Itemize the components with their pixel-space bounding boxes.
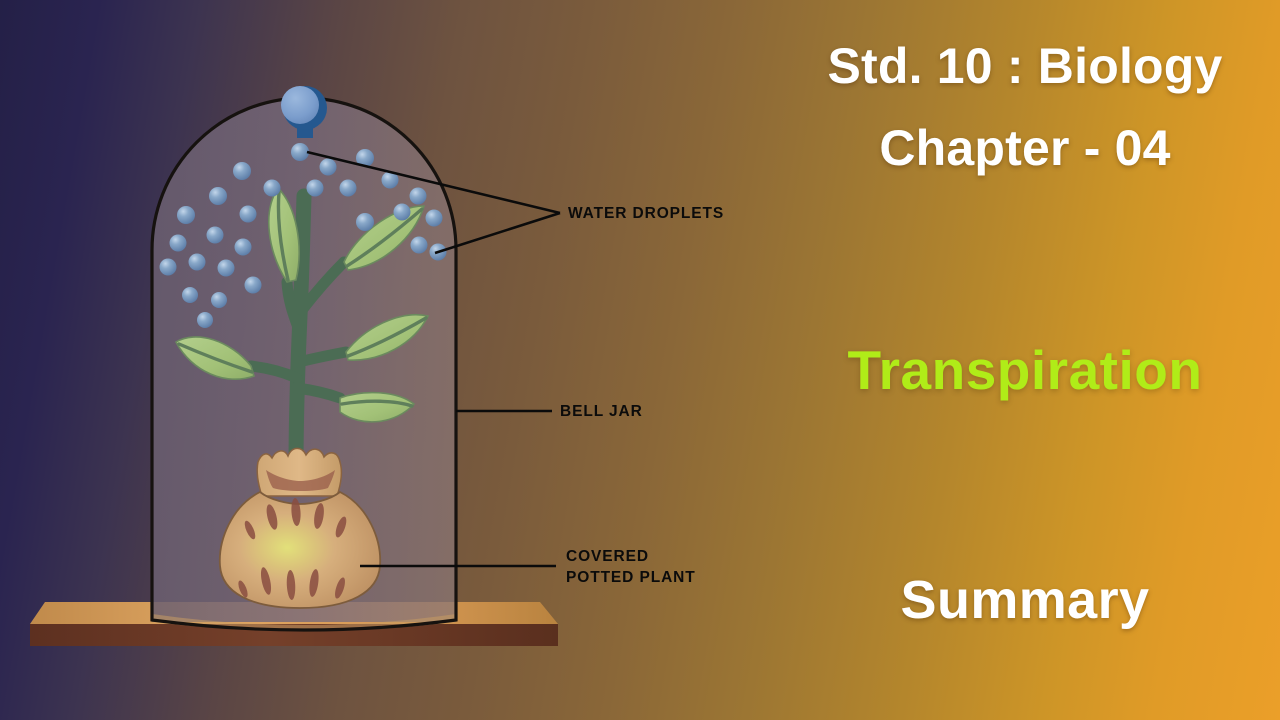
label-covered-potted-plant: COVERED POTTED PLANT <box>566 546 696 588</box>
label-water-droplets: WATER DROPLETS <box>568 203 724 224</box>
diagram-svg <box>0 0 770 720</box>
slide-root: WATER DROPLETS BELL JAR COVERED POTTED P… <box>0 0 1280 720</box>
slide-title-line-1: Std. 10 : Biology <box>770 36 1280 96</box>
transpiration-diagram: WATER DROPLETS BELL JAR COVERED POTTED P… <box>0 0 770 720</box>
topic-heading: Transpiration <box>770 338 1280 402</box>
summary-heading: Summary <box>770 568 1280 632</box>
label-bell-jar: BELL JAR <box>560 401 643 422</box>
right-text-panel: Std. 10 : Biology Chapter - 04 Transpira… <box>770 0 1280 720</box>
knob-cap <box>281 86 319 124</box>
slide-title-line-2: Chapter - 04 <box>770 118 1280 178</box>
